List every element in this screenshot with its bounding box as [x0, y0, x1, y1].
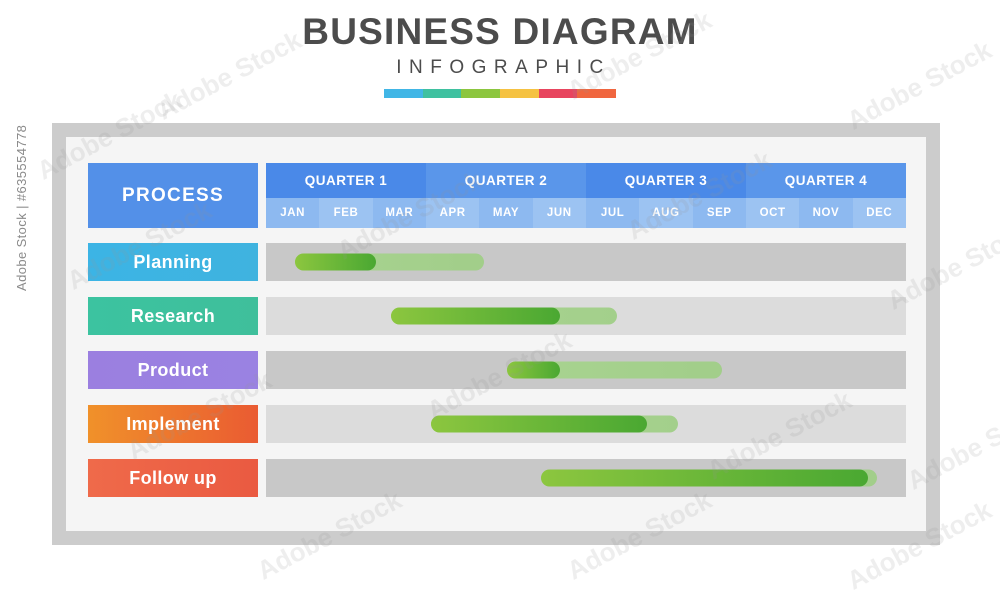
task-track-product	[266, 351, 906, 389]
task-label-cell-implement[interactable]: Implement	[88, 405, 258, 443]
task-label: Implement	[126, 414, 220, 435]
accent-swatch-5	[539, 89, 578, 98]
accent-swatch-2	[423, 89, 462, 98]
month-header-feb[interactable]: FEB	[319, 198, 372, 228]
accent-swatch-3	[461, 89, 500, 98]
task-bar-completed[interactable]	[541, 470, 868, 487]
task-track-follow-up	[266, 459, 906, 497]
page-subtitle: INFOGRAPHIC	[0, 55, 1000, 81]
task-rows: PlanningResearchProductImplementFollow u…	[88, 243, 906, 497]
process-header-cell: PROCESS	[88, 163, 258, 228]
month-header-nov[interactable]: NOV	[799, 198, 852, 228]
chart-header-row: PROCESS QUARTER 1QUARTER 2QUARTER 3QUART…	[88, 163, 906, 228]
page-title: BUSINESS DIAGRAM	[0, 12, 1000, 52]
stock-watermark-side: Adobe Stock | #635554778	[14, 125, 29, 291]
task-row: Planning	[88, 243, 906, 281]
month-header-oct[interactable]: OCT	[746, 198, 799, 228]
calendar-header: QUARTER 1QUARTER 2QUARTER 3QUARTER 4 JAN…	[266, 163, 906, 228]
month-header-jan[interactable]: JAN	[266, 198, 319, 228]
task-row: Research	[88, 297, 906, 335]
quarter-header-1[interactable]: QUARTER 1	[266, 163, 426, 198]
accent-swatch-4	[500, 89, 539, 98]
task-track-research	[266, 297, 906, 335]
task-label: Planning	[133, 252, 212, 273]
task-bar-completed[interactable]	[391, 308, 559, 325]
accent-swatch-1	[384, 89, 423, 98]
task-label-cell-follow-up[interactable]: Follow up	[88, 459, 258, 497]
task-bar-completed[interactable]	[295, 254, 376, 271]
task-label-cell-planning[interactable]: Planning	[88, 243, 258, 281]
process-label: PROCESS	[122, 185, 224, 207]
task-track-planning	[266, 243, 906, 281]
task-label: Research	[131, 306, 215, 327]
month-header-jul[interactable]: JUL	[586, 198, 639, 228]
quarter-row: QUARTER 1QUARTER 2QUARTER 3QUARTER 4	[266, 163, 906, 198]
month-header-jun[interactable]: JUN	[533, 198, 586, 228]
title-block: BUSINESS DIAGRAM INFOGRAPHIC	[0, 12, 1000, 98]
month-row: JANFEBMARAPRMAYJUNJULAUGSEPOCTNOVDEC	[266, 198, 906, 228]
task-track-implement	[266, 405, 906, 443]
quarter-header-3[interactable]: QUARTER 3	[586, 163, 746, 198]
task-bar-completed[interactable]	[507, 362, 560, 379]
month-header-apr[interactable]: APR	[426, 198, 479, 228]
month-header-mar[interactable]: MAR	[373, 198, 426, 228]
task-label: Product	[138, 360, 209, 381]
quarter-header-4[interactable]: QUARTER 4	[746, 163, 906, 198]
month-header-sep[interactable]: SEP	[693, 198, 746, 228]
gantt-chart: PROCESS QUARTER 1QUARTER 2QUARTER 3QUART…	[88, 163, 906, 513]
task-label-cell-product[interactable]: Product	[88, 351, 258, 389]
accent-swatch-6	[577, 89, 616, 98]
month-header-aug[interactable]: AUG	[639, 198, 692, 228]
task-row: Product	[88, 351, 906, 389]
month-header-may[interactable]: MAY	[479, 198, 532, 228]
task-label: Follow up	[129, 468, 217, 489]
task-row: Implement	[88, 405, 906, 443]
task-label-cell-research[interactable]: Research	[88, 297, 258, 335]
quarter-header-2[interactable]: QUARTER 2	[426, 163, 586, 198]
accent-color-bar	[384, 89, 616, 98]
month-header-dec[interactable]: DEC	[853, 198, 906, 228]
task-row: Follow up	[88, 459, 906, 497]
task-bar-completed[interactable]	[431, 416, 647, 433]
